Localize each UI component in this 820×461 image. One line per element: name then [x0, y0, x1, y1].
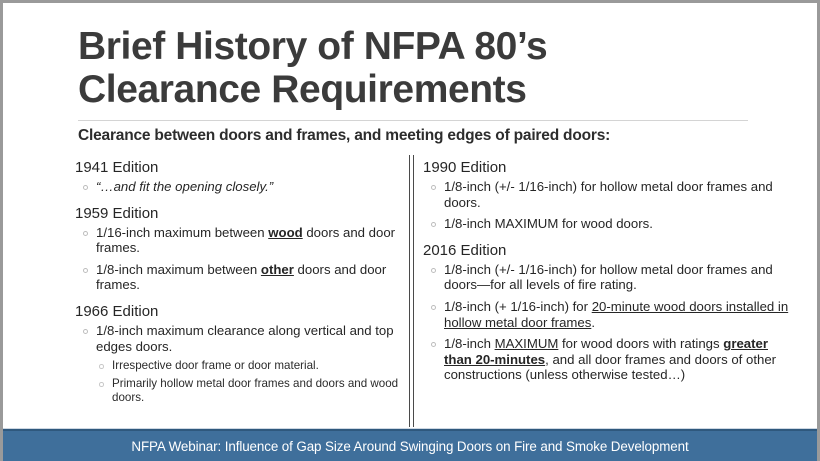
- bullet-list: 1/8-inch maximum clearance along vertica…: [75, 323, 405, 405]
- left-column: 1941 Edition“…and fit the opening closel…: [75, 158, 405, 414]
- edition-group: 1959 Edition1/16-inch maximum between wo…: [75, 204, 405, 293]
- edition-group: 1941 Edition“…and fit the opening closel…: [75, 158, 405, 195]
- edition-group: 2016 Edition1/8-inch (+/- 1/16-inch) for…: [423, 241, 793, 383]
- list-item: 1/8-inch (+ 1/16-inch) for 20-minute woo…: [423, 299, 793, 330]
- text-run: 1/8-inch: [444, 336, 495, 351]
- edition-heading: 1966 Edition: [75, 302, 405, 321]
- column-divider: [409, 155, 415, 427]
- sub-list-item: Irrespective door frame or door material…: [96, 359, 405, 373]
- text-run: Primarily hollow metal door frames and d…: [112, 377, 398, 404]
- list-item: “…and fit the opening closely.”: [75, 179, 405, 195]
- page-title: Brief History of NFPA 80’s Clearance Req…: [78, 25, 758, 111]
- sub-bullet-list: Irrespective door frame or door material…: [96, 359, 405, 405]
- edition-heading: 1990 Edition: [423, 158, 793, 177]
- emphasis-bold-underline: wood: [268, 225, 302, 240]
- list-item: 1/8-inch MAXIMUM for wood doors with rat…: [423, 336, 793, 383]
- text-run: 1/8-inch maximum between: [96, 262, 261, 277]
- edition-group: 1966 Edition1/8-inch maximum clearance a…: [75, 302, 405, 405]
- text-run: 1/8-inch maximum clearance along vertica…: [96, 323, 394, 354]
- list-item: 1/8-inch maximum between other doors and…: [75, 262, 405, 293]
- text-run: “…and fit the opening closely.”: [96, 179, 273, 194]
- slide-subtitle: Clearance between doors and frames, and …: [78, 127, 610, 145]
- text-run: .: [591, 315, 595, 330]
- text-run: Irrespective door frame or door material…: [112, 359, 319, 372]
- right-column: 1990 Edition1/8-inch (+/- 1/16-inch) for…: [423, 158, 793, 392]
- list-item: 1/16-inch maximum between wood doors and…: [75, 225, 405, 256]
- list-item: 1/8-inch (+/- 1/16-inch) for hollow meta…: [423, 179, 793, 210]
- text-run: 1/8-inch (+ 1/16-inch) for: [444, 299, 592, 314]
- list-item: 1/8-inch maximum clearance along vertica…: [75, 323, 405, 405]
- footer-bar: NFPA Webinar: Influence of Gap Size Arou…: [3, 429, 817, 461]
- text-run: 1/8-inch MAXIMUM for wood doors.: [444, 216, 653, 231]
- bullet-list: 1/16-inch maximum between wood doors and…: [75, 225, 405, 293]
- presentation-slide: Brief History of NFPA 80’s Clearance Req…: [0, 0, 820, 461]
- edition-heading: 1959 Edition: [75, 204, 405, 223]
- text-run: for wood doors with ratings: [558, 336, 723, 351]
- footer-text: NFPA Webinar: Influence of Gap Size Arou…: [131, 439, 688, 454]
- emphasis-underline: MAXIMUM: [495, 336, 559, 351]
- text-run: 1/16-inch maximum between: [96, 225, 268, 240]
- title-divider-rule: [78, 120, 748, 121]
- bullet-list: 1/8-inch (+/- 1/16-inch) for hollow meta…: [423, 262, 793, 383]
- text-run: 1/8-inch (+/- 1/16-inch) for hollow meta…: [444, 262, 773, 293]
- list-item: 1/8-inch (+/- 1/16-inch) for hollow meta…: [423, 262, 793, 293]
- edition-heading: 2016 Edition: [423, 241, 793, 260]
- title-block: Brief History of NFPA 80’s Clearance Req…: [78, 25, 758, 111]
- text-run: 1/8-inch (+/- 1/16-inch) for hollow meta…: [444, 179, 773, 210]
- bullet-list: 1/8-inch (+/- 1/16-inch) for hollow meta…: [423, 179, 793, 232]
- edition-group: 1990 Edition1/8-inch (+/- 1/16-inch) for…: [423, 158, 793, 232]
- edition-heading: 1941 Edition: [75, 158, 405, 177]
- list-item: 1/8-inch MAXIMUM for wood doors.: [423, 216, 793, 232]
- sub-list-item: Primarily hollow metal door frames and d…: [96, 377, 405, 405]
- emphasis-bold-underline: other: [261, 262, 294, 277]
- bullet-list: “…and fit the opening closely.”: [75, 179, 405, 195]
